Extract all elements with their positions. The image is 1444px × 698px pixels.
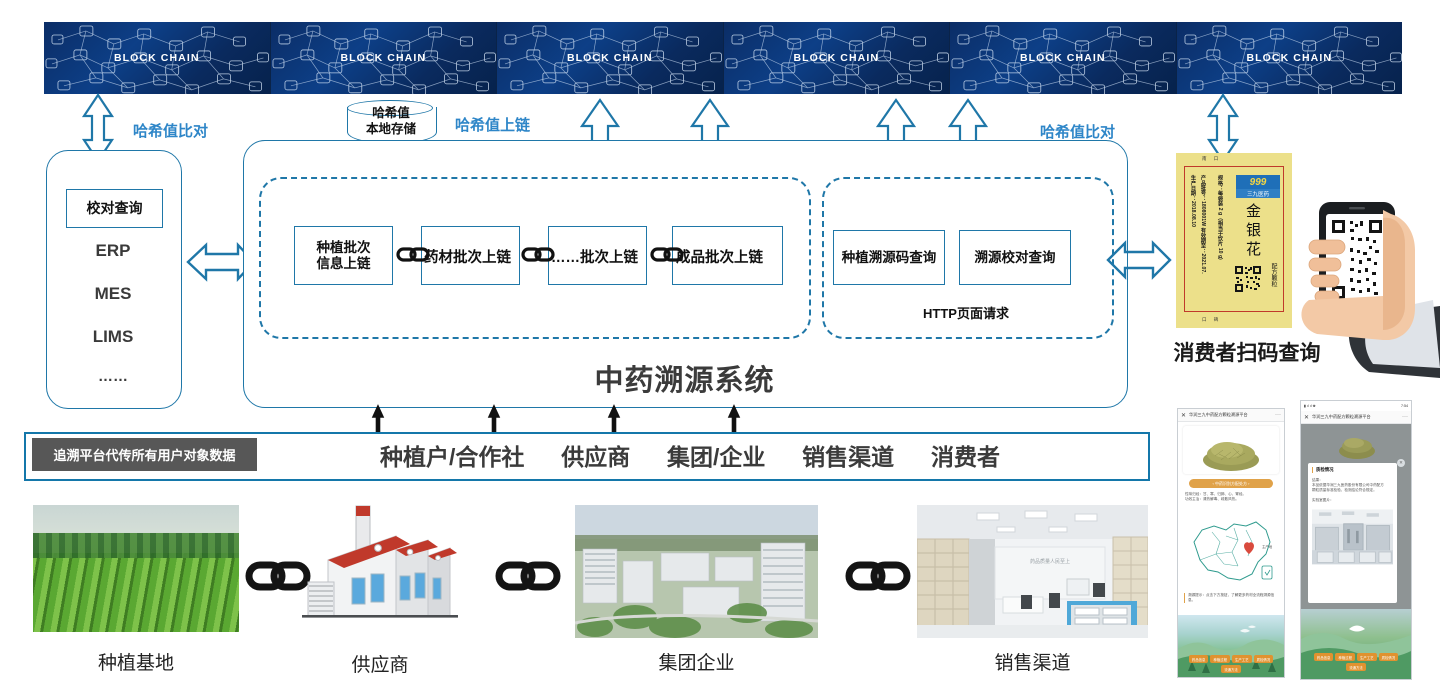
blockchain-banner-label: BLOCK CHAIN: [44, 52, 270, 64]
chain-box-planting-line1: 种植批次: [317, 240, 371, 255]
role-feed-arrows: [340, 404, 1040, 434]
blockchain-banner-tile: BLOCK CHAIN: [950, 22, 1177, 94]
caption-enterprise: 集团企业: [575, 648, 818, 675]
trace-tag-4[interactable]: 流通方法: [1221, 665, 1241, 673]
card-line-2: 颗粒质量标准检验，检测结论符合规定。: [1312, 488, 1393, 493]
system-title: 中药溯源系统: [243, 357, 1126, 399]
planting-trace-code-query-box[interactable]: 种植溯源码查询: [833, 230, 945, 285]
chain-box-finished-label: 成品批次上链: [676, 246, 763, 267]
role-consumer: 消费者: [931, 438, 1000, 472]
factory-illustration: [300, 498, 460, 633]
app-title: 华润三九中药配方颗粒溯源平台: [1312, 414, 1371, 420]
prescription-pill-button[interactable]: ‹ 中药识别方配处方 ›: [1189, 479, 1273, 488]
more-dots-icon[interactable]: ···: [1402, 414, 1408, 420]
card-line-3: 实验室图片：: [1312, 498, 1393, 503]
phone-status-bar: ▮ ıl ıl ❀ 7:54: [1301, 401, 1411, 411]
app-top-bar: ✕ 华润三九中药配方颗粒溯源平台 ···: [1301, 411, 1411, 424]
label-top-marks: 南 口: [1202, 156, 1221, 162]
map-pin-label: 主产地: [1262, 544, 1273, 549]
double-arrow-left-right-icon: [1108, 243, 1170, 277]
close-icon[interactable]: ✕: [1181, 412, 1186, 419]
http-request-caption: HTTP页面请求: [822, 303, 1110, 322]
tip-text: 溯源提示：点击下方按钮，了解更多药材全流程溯源信息。: [1188, 593, 1278, 603]
verification-query-box[interactable]: 校对查询: [66, 189, 163, 228]
info-line-2: 功效主治：清热解毒、疏散风热。: [1185, 497, 1277, 502]
campus-buildings-illustration: [575, 505, 818, 638]
pharmacy-interior-photo: 药品质量人民至上: [917, 505, 1148, 638]
chain-link-icon: [495, 558, 561, 594]
role-sales-channel: 销售渠道: [802, 438, 894, 472]
brand-logo-999: 999: [1236, 175, 1280, 189]
chain-link-icon: [521, 246, 555, 263]
product-info-block: 性味归经：甘、寒、归肺、心、胃经。 功效主治：清热解毒、疏散风热。: [1185, 492, 1277, 502]
herb-granules-photo: [1333, 429, 1381, 461]
system-consumer-exchange-arrow: [1106, 238, 1172, 282]
role-grower: 种植户/合作社: [380, 438, 524, 472]
blockchain-banner-label: BLOCK CHAIN: [1177, 52, 1403, 64]
chain-link-icon: [845, 558, 911, 594]
trace-verification-query-box[interactable]: 溯源校对查询: [959, 230, 1071, 285]
caption-sales-channel: 销售渠道: [917, 648, 1148, 675]
caption-supplier: 供应商: [300, 650, 460, 677]
herb-granules-photo: [1183, 426, 1279, 474]
trace-tag-3[interactable]: 质检情况: [1379, 653, 1399, 661]
consumer-scan-caption: 消费者扫码查询: [1157, 337, 1337, 367]
quality-inspection-card: 质检情况 结果： 本品依据华润三九医药股份有限公司中药配方 颗粒质量标准检验，检…: [1308, 463, 1397, 603]
caption-planting-base: 种植基地: [33, 648, 239, 675]
corporate-campus-photo: [575, 505, 818, 638]
chain-box-planting-line2: 信息上链: [317, 256, 371, 271]
app-title: 华润三九中药配方颗粒溯源平台: [1189, 412, 1248, 418]
chain-box-intermediate-label: ……批次上链: [551, 246, 638, 267]
hash-store-line1: 哈希值: [347, 106, 435, 122]
planting-base-photo: [33, 505, 239, 632]
close-icon[interactable]: ✕: [1304, 414, 1309, 421]
pill-button-label: 中药识别方配处方: [1215, 481, 1247, 487]
erp-item-mes: MES: [46, 284, 180, 304]
blockchain-banner-label: BLOCK CHAIN: [497, 52, 723, 64]
blockchain-banner-label: BLOCK CHAIN: [271, 52, 497, 64]
blockchain-banner-label: BLOCK CHAIN: [950, 52, 1176, 64]
erp-item-erp: ERP: [46, 241, 180, 261]
pharmacy-interior-illustration: 药品质量人民至上: [917, 505, 1148, 638]
signal-icon: ▮ ıl ıl ❀: [1304, 404, 1316, 408]
label-batch-number: 产品批号：1808001W 有效期至：2021.07.: [1200, 175, 1207, 305]
close-circle-icon[interactable]: ✕: [1397, 459, 1405, 467]
trace-tag-1[interactable]: 种植过程: [1335, 653, 1355, 661]
tree-line-region: [33, 533, 239, 558]
trace-tag-list[interactable]: 药品信息 种植过程 生产工艺 质检情况 流通方法: [1301, 653, 1411, 671]
erp-item-lims: LIMS: [46, 327, 180, 347]
platform-proxy-tag: 追溯平台代传所有用户对象数据: [32, 438, 257, 471]
blockchain-banner-tile: BLOCK CHAIN: [497, 22, 724, 94]
erp-item-more: ……: [46, 368, 180, 385]
svg-text:药品质量人民至上: 药品质量人民至上: [1030, 558, 1070, 565]
trace-tag-0[interactable]: 药品信息: [1314, 653, 1334, 661]
hash-store-line2: 本地存储: [347, 122, 435, 138]
trace-tag-list[interactable]: 药品信息 种植过程 生产工艺 质检情况 流通方法: [1178, 655, 1284, 673]
role-supplier: 供应商: [561, 438, 630, 472]
card-title: 质检情况: [1312, 467, 1393, 473]
status-time: 7:54: [1401, 404, 1408, 408]
trace-tag-1[interactable]: 种植过程: [1210, 655, 1230, 663]
trace-tag-3[interactable]: 质检情况: [1254, 655, 1274, 663]
app-screenshot-traceability-detail[interactable]: ▮ ıl ıl ❀ 7:54 ✕ 华润三九中药配方颗粒溯源平台 ··· 质检情况…: [1300, 400, 1412, 680]
hash-compare-left-label: 哈希值比对: [133, 120, 208, 141]
blockchain-banner-label: BLOCK CHAIN: [724, 52, 950, 64]
traceability-tip: 溯源提示：点击下方按钮，了解更多药材全流程溯源信息。: [1184, 593, 1278, 603]
blockchain-banner-tile: BLOCK CHAIN: [44, 22, 271, 94]
hash-compare-right-label: 哈希值比对: [1040, 121, 1115, 142]
trace-tag-2[interactable]: 生产工艺: [1357, 653, 1377, 661]
trace-tag-4[interactable]: 流通方法: [1346, 663, 1366, 671]
china-map-icon[interactable]: 主产地: [1182, 512, 1280, 590]
label-spec: 规格：每袋装 2 g（相当于饮片 10 g）: [1217, 175, 1224, 295]
arrow-up-icon: [373, 406, 739, 432]
qr-code-icon: [1234, 265, 1262, 293]
chain-box-material-label: 药材批次上链: [424, 246, 511, 267]
laboratory-photo: [1312, 506, 1393, 568]
label-bottom-marks: 口 碑: [1202, 317, 1221, 323]
blockchain-banner-tile: BLOCK CHAIN: [724, 22, 951, 94]
blockchain-banner-tile: BLOCK CHAIN: [271, 22, 498, 94]
hash-onchain-label: 哈希值上链: [455, 114, 530, 135]
double-arrow-up-down-icon: [1209, 95, 1237, 161]
trace-tag-2[interactable]: 生产工艺: [1232, 655, 1252, 663]
more-dots-icon[interactable]: ···: [1275, 412, 1281, 418]
product-image-card: [1183, 426, 1279, 474]
chain-box-planting-batch[interactable]: 种植批次 信息上链: [294, 226, 393, 285]
role-list: 种植户/合作社 供应商 集团/企业 销售渠道 消费者: [380, 432, 1000, 477]
app-screenshot-traceability-home[interactable]: ✕ 华润三九中药配方颗粒溯源平台 ··· ‹ 中药识别方配处方 › 性味归经：甘…: [1177, 408, 1285, 678]
blockchain-banner-tile: BLOCK CHAIN: [1177, 22, 1403, 94]
trace-tag-0[interactable]: 药品信息: [1189, 655, 1209, 663]
app-top-bar: ✕ 华润三九中药配方颗粒溯源平台 ···: [1178, 409, 1284, 422]
label-produced-date: 生产日期：2018.08.10: [1190, 175, 1197, 301]
blockchain-banner: BLOCK CHAIN: [44, 22, 1402, 94]
role-enterprise: 集团/企业: [667, 438, 765, 472]
